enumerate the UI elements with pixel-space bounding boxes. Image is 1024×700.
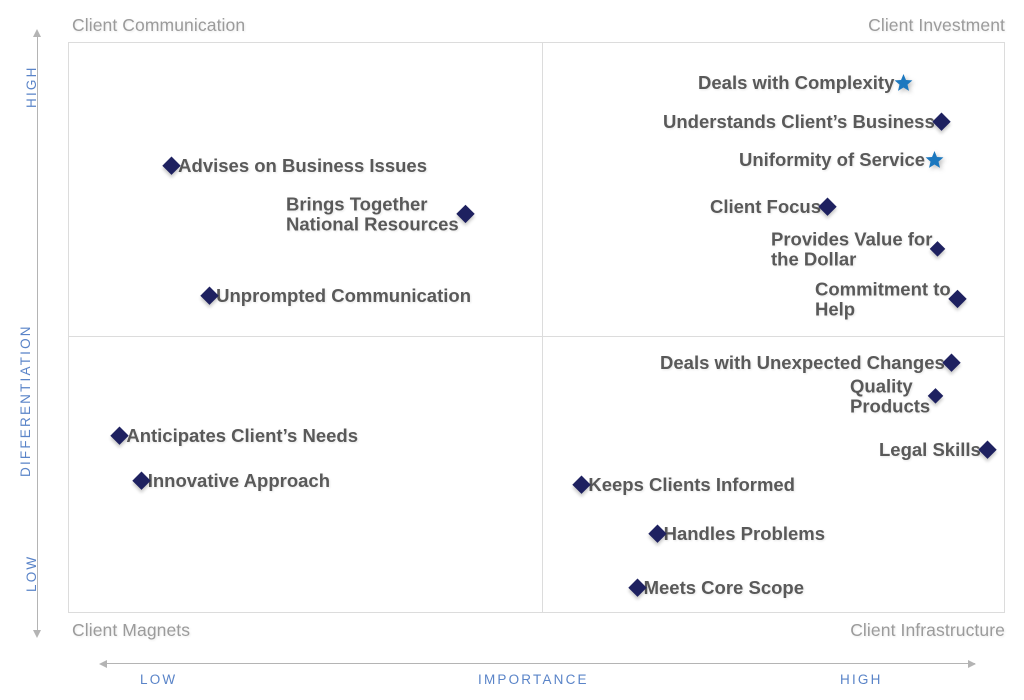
data-point[interactable]: Meets Core Scope: [0, 578, 813, 598]
x-axis-low-label: LOW: [140, 672, 177, 687]
data-point-label: Advises on Business Issues: [178, 156, 427, 176]
quadrant-label-client-communication: Client Communication: [72, 15, 245, 36]
data-point-label: Understands Client’s Business: [663, 112, 935, 132]
arrow-left-icon: [99, 660, 107, 668]
y-axis-title: DIFFERENTIATION: [18, 324, 33, 477]
quadrant-label-client-infrastructure: Client Infrastructure: [850, 620, 1005, 641]
quadrant-divider-horizontal: [68, 336, 1005, 337]
data-point-label: Anticipates Client’s Needs: [126, 426, 358, 446]
data-point-label: Handles Problems: [664, 524, 825, 544]
data-point[interactable]: Advises on Business Issues: [0, 156, 436, 176]
data-point-label: QualityProducts: [850, 376, 930, 415]
data-point[interactable]: Provides Value forthe Dollar: [763, 229, 943, 268]
arrow-down-icon: [33, 630, 41, 638]
data-point[interactable]: Commitment toHelp: [807, 279, 964, 318]
x-axis-line: [106, 663, 975, 664]
data-point[interactable]: Anticipates Client’s Needs: [0, 426, 367, 446]
data-point-label: Client Focus: [710, 197, 821, 217]
x-axis-title: IMPORTANCE: [478, 672, 589, 687]
data-point-label: Meets Core Scope: [644, 578, 804, 598]
arrow-right-icon: [968, 660, 976, 668]
data-point[interactable]: Unprompted Communication: [0, 286, 480, 306]
quadrant-label-client-investment: Client Investment: [868, 15, 1005, 36]
data-point[interactable]: Legal Skills: [871, 440, 994, 460]
y-axis-high-label: HIGH: [24, 65, 39, 108]
data-point[interactable]: Brings TogetherNational Resources: [278, 194, 472, 233]
data-point[interactable]: Understands Client’s Business: [655, 112, 948, 132]
data-point[interactable]: Deals with Unexpected Changes: [652, 353, 958, 373]
data-point-label: Innovative Approach: [148, 471, 330, 491]
data-point-label: Uniformity of Service: [739, 150, 925, 170]
data-point-label: Provides Value forthe Dollar: [771, 229, 932, 268]
data-point[interactable]: Uniformity of Service: [731, 150, 944, 170]
diamond-marker-icon: [928, 388, 944, 404]
data-point-label: Legal Skills: [879, 440, 981, 460]
data-point[interactable]: Client Focus: [702, 197, 834, 217]
arrow-up-icon: [33, 29, 41, 37]
diamond-marker-icon: [930, 241, 946, 257]
data-point[interactable]: QualityProducts: [842, 376, 941, 415]
data-point-label: Brings TogetherNational Resources: [286, 194, 459, 233]
star-marker-icon: [894, 73, 913, 92]
chart-canvas: Client Communication Client Investment C…: [0, 0, 1024, 700]
data-point[interactable]: Innovative Approach: [0, 471, 339, 491]
data-point[interactable]: Deals with Complexity: [690, 73, 913, 93]
data-point-label: Deals with Unexpected Changes: [660, 353, 945, 373]
data-point-label: Keeps Clients Informed: [588, 475, 795, 495]
x-axis-high-label: HIGH: [840, 672, 883, 687]
data-point[interactable]: Handles Problems: [0, 524, 834, 544]
star-marker-icon: [925, 150, 944, 169]
diamond-marker-icon: [818, 198, 836, 216]
y-axis-line: [37, 36, 38, 635]
data-point-label: Commitment toHelp: [815, 279, 951, 318]
data-point-label: Unprompted Communication: [216, 286, 471, 306]
data-point-label: Deals with Complexity: [698, 73, 894, 93]
quadrant-label-client-magnets: Client Magnets: [72, 620, 190, 641]
